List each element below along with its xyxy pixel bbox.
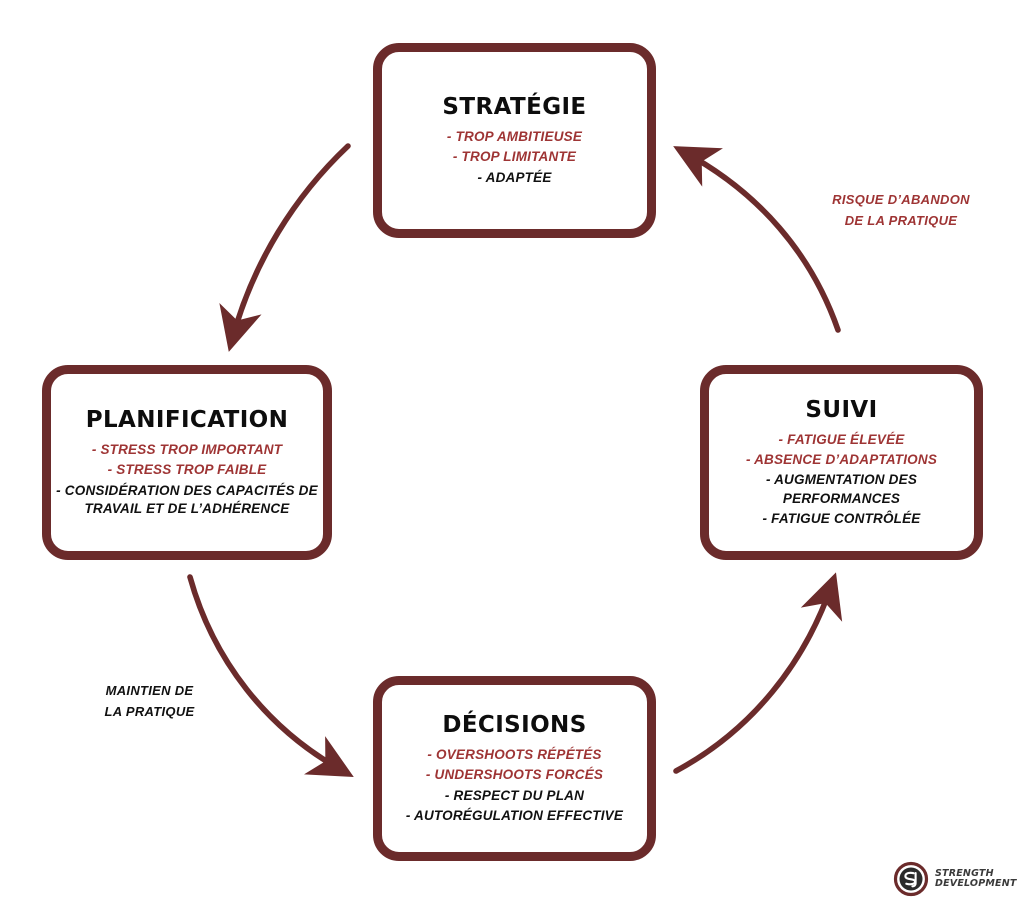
logo-line-2: DEVELOPMENT (935, 879, 1017, 889)
node-decisions-title: DÉCISIONS (442, 712, 586, 738)
node-suivi[interactable]: SUIVI - FATIGUE ÉLEVÉE - ABSENCE D’ADAPT… (700, 365, 983, 560)
arrow-suivi-to-strategie (684, 152, 838, 330)
logo-wordmark: STRENGTH DEVELOPMENT (935, 869, 1017, 889)
edge-label-maintien-pratique: MAINTIEN DE LA PRATIQUE (62, 681, 237, 723)
node-suivi-title: SUIVI (805, 397, 877, 423)
node-strategie[interactable]: STRATÉGIE - TROP AMBITIEUSE - TROP LIMIT… (373, 43, 656, 238)
node-planification-line-1: - STRESS TROP IMPORTANT (92, 441, 282, 459)
arrow-decisions-to-suivi (676, 584, 832, 771)
logo-monogram-icon (893, 861, 929, 897)
node-strategie-lines: - TROP AMBITIEUSE - TROP LIMITANTE - ADA… (382, 128, 647, 187)
node-suivi-line-1: - FATIGUE ÉLEVÉE (779, 431, 905, 449)
node-suivi-line-3: - AUGMENTATION DES PERFORMANCES (766, 471, 917, 507)
node-suivi-line-4: - FATIGUE CONTRÔLÉE (762, 510, 920, 528)
node-strategie-line-1: - TROP AMBITIEUSE (447, 128, 582, 146)
node-planification-lines: - STRESS TROP IMPORTANT - STRESS TROP FA… (51, 441, 323, 518)
node-decisions-lines: - OVERSHOOTS RÉPÉTÉS - UNDERSHOOTS FORCÉ… (382, 746, 647, 825)
brand-logo: STRENGTH DEVELOPMENT (893, 859, 1015, 899)
diagram-canvas: STRATÉGIE - TROP AMBITIEUSE - TROP LIMIT… (0, 0, 1024, 909)
node-decisions-line-4: - AUTORÉGULATION EFFECTIVE (406, 807, 623, 825)
node-suivi-lines: - FATIGUE ÉLEVÉE - ABSENCE D’ADAPTATIONS… (709, 431, 974, 528)
node-strategie-line-2: - TROP LIMITANTE (453, 148, 576, 166)
arrow-strategie-to-planification (232, 146, 348, 340)
node-strategie-title: STRATÉGIE (442, 94, 586, 120)
node-decisions[interactable]: DÉCISIONS - OVERSHOOTS RÉPÉTÉS - UNDERSH… (373, 676, 656, 861)
node-planification[interactable]: PLANIFICATION - STRESS TROP IMPORTANT - … (42, 365, 332, 560)
node-suivi-line-2: - ABSENCE D’ADAPTATIONS (746, 451, 937, 469)
node-planification-line-3: - CONSIDÉRATION DES CAPACITÉS DE TRAVAIL… (56, 482, 318, 518)
node-planification-line-2: - STRESS TROP FAIBLE (108, 461, 267, 479)
arrow-planification-to-decisions (190, 577, 343, 771)
node-decisions-line-1: - OVERSHOOTS RÉPÉTÉS (427, 746, 601, 764)
node-decisions-line-3: - RESPECT DU PLAN (445, 787, 584, 805)
node-strategie-line-3: - ADAPTÉE (477, 169, 551, 187)
node-planification-title: PLANIFICATION (86, 407, 289, 433)
node-decisions-line-2: - UNDERSHOOTS FORCÉS (426, 766, 603, 784)
edge-label-risque-abandon: RISQUE D’ABANDON DE LA PRATIQUE (806, 190, 996, 232)
